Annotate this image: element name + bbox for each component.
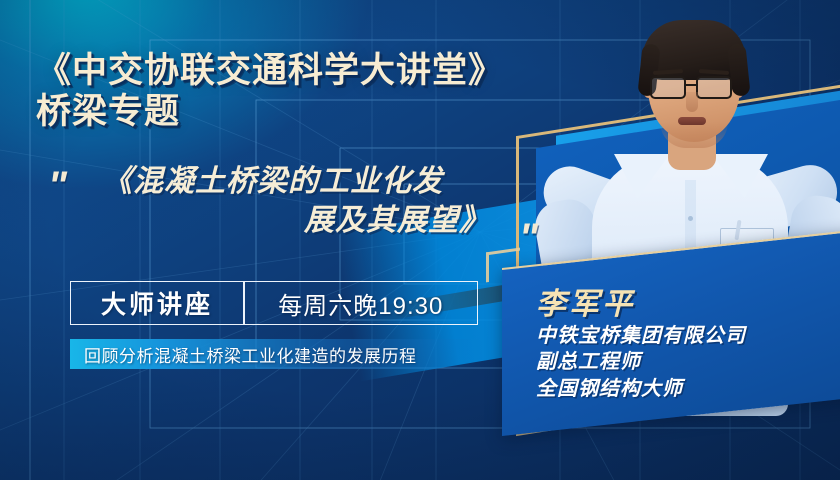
- lecture-info-box: 大师讲座 每周六晚19:30: [70, 281, 478, 325]
- speaker-credential-1: 中铁宝桥集团有限公司: [536, 323, 840, 349]
- quote-mark-open-icon: ": [48, 166, 67, 206]
- lecture-schedule-label: 每周六晚19:30: [245, 282, 477, 324]
- mouth: [678, 117, 706, 125]
- speaker-credential-3: 全国钢结构大师: [536, 376, 840, 402]
- speaker-name: 李军平: [536, 288, 840, 321]
- nameplate-content: 李军平 中铁宝桥集团有限公司 副总工程师 全国钢结构大师: [502, 270, 840, 402]
- glasses-lens-right: [696, 76, 732, 99]
- headline-block: 《中交协联交通科学大讲堂》 桥梁专题: [36, 50, 556, 133]
- headline-line-1: 《中交协联交通科学大讲堂》: [36, 50, 556, 91]
- glasses-lens-left: [650, 76, 686, 99]
- quote-line-2: 展及其展望》: [94, 201, 490, 240]
- shirt-button: [688, 216, 693, 221]
- quote-text: 《混凝土桥梁的工业化发 展及其展望》: [46, 162, 536, 240]
- speaker-credential-2: 副总工程师: [536, 349, 840, 375]
- poster-canvas: 《中交协联交通科学大讲堂》 桥梁专题 " 《混凝土桥梁的工业化发 展及其展望》 …: [0, 0, 840, 480]
- quote-line-1: 《混凝土桥梁的工业化发: [94, 162, 490, 201]
- subtitle-text: 回顾分析混凝土桥梁工业化建造的发展历程: [70, 342, 417, 367]
- quote-mark-close-icon: ": [519, 218, 538, 258]
- quote-block: " 《混凝土桥梁的工业化发 展及其展望》 ": [46, 162, 536, 240]
- subtitle-bar: 回顾分析混凝土桥梁工业化建造的发展历程: [70, 339, 482, 369]
- nose: [686, 92, 698, 112]
- lecture-type-label: 大师讲座: [71, 282, 243, 324]
- headline-line-2: 桥梁专题: [36, 91, 556, 132]
- glasses-bridge: [686, 84, 698, 86]
